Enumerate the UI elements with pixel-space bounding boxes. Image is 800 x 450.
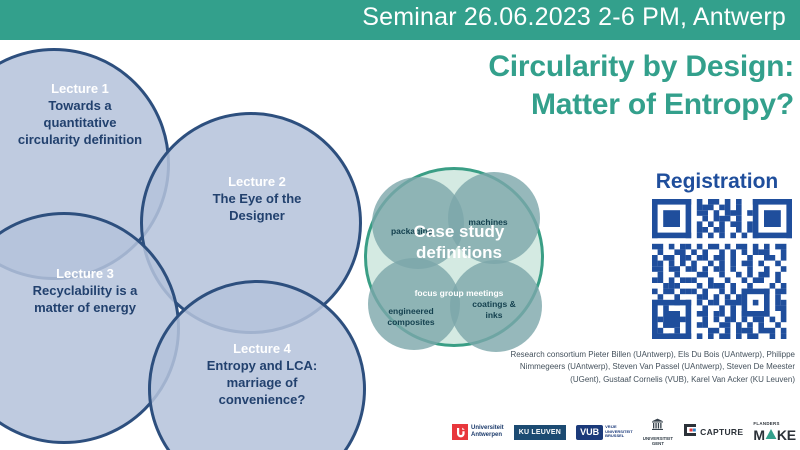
uantwerpen-mark-icon (452, 424, 468, 440)
partner-logo-strip: Universiteit Antwerpen KU LEUVEN VUB VRI… (452, 419, 796, 445)
ugent-wordmark: UNIVERSITEIT GENT (643, 436, 673, 447)
seminar-poster: Seminar 26.06.2023 2-6 PM, Antwerp Circu… (0, 0, 800, 450)
vub-line-3: BRUSSEL (605, 433, 624, 438)
make-letters-ke: KE (777, 428, 796, 442)
logo-ku-leuven[interactable]: KU LEUVEN (514, 425, 566, 440)
triangle-a-icon (765, 428, 777, 442)
coatings-line-1: coatings & (472, 299, 515, 309)
page-title: Circularity by Design: Matter of Entropy… (382, 48, 794, 125)
page-title-line-1: Circularity by Design: (488, 50, 794, 83)
case-study-label-engineered-composites: engineered composites (371, 306, 451, 327)
uantwerpen-line-2: Antwerpen (471, 432, 502, 438)
logo-universiteit-gent[interactable]: UNIVERSITEIT GENT (643, 418, 673, 447)
kuleuven-wordmark: KU LEUVEN (514, 425, 566, 440)
header-banner: Seminar 26.06.2023 2-6 PM, Antwerp (0, 0, 800, 40)
ugent-line-2: GENT (652, 441, 664, 446)
engineered-line-2: composites (387, 317, 434, 327)
case-study-subtitle: focus group meetings (381, 288, 537, 298)
registration-label: Registration (638, 170, 796, 194)
case-study-title-line-2: definitions (416, 243, 502, 262)
case-study-title-line-1: Case study (414, 222, 505, 241)
uantwerpen-line-1: Universiteit (471, 425, 504, 431)
vub-mark: VUB (576, 425, 603, 440)
case-study-title: Case study definitions (384, 222, 534, 263)
uantwerpen-wordmark: Universiteit Antwerpen (471, 425, 504, 439)
seminar-banner-text: Seminar 26.06.2023 2-6 PM, Antwerp (362, 3, 786, 32)
vub-wordmark: VRIJE UNIVERSITEIT BRUSSEL (605, 425, 633, 439)
make-letter-m: M (753, 428, 764, 442)
capture-bracket-icon (683, 423, 697, 441)
ugent-building-icon (651, 418, 664, 435)
research-consortium-text: Research consortium Pieter Billen (UAntw… (505, 349, 795, 386)
page-title-line-2: Matter of Entropy? (382, 86, 794, 124)
logo-vrije-universiteit-brussel[interactable]: VUB VRIJE UNIVERSITEIT BRUSSEL (576, 425, 633, 440)
logo-universiteit-antwerpen[interactable]: Universiteit Antwerpen (452, 424, 504, 440)
coatings-line-2: inks (485, 310, 502, 320)
registration-qr-code[interactable] (652, 199, 792, 339)
case-study-circle-engineered-composites[interactable] (368, 258, 460, 350)
case-study-label-coatings-inks: coatings & inks (458, 299, 530, 320)
capture-wordmark: CAPTURE (700, 427, 743, 437)
make-wordmark: M KE (753, 428, 796, 442)
engineered-line-1: engineered (388, 306, 433, 316)
ugent-line-1: UNIVERSITEIT (643, 436, 673, 441)
logo-flanders-make[interactable]: FLANDERS M KE (753, 422, 796, 441)
logo-capture[interactable]: CAPTURE (683, 423, 743, 441)
